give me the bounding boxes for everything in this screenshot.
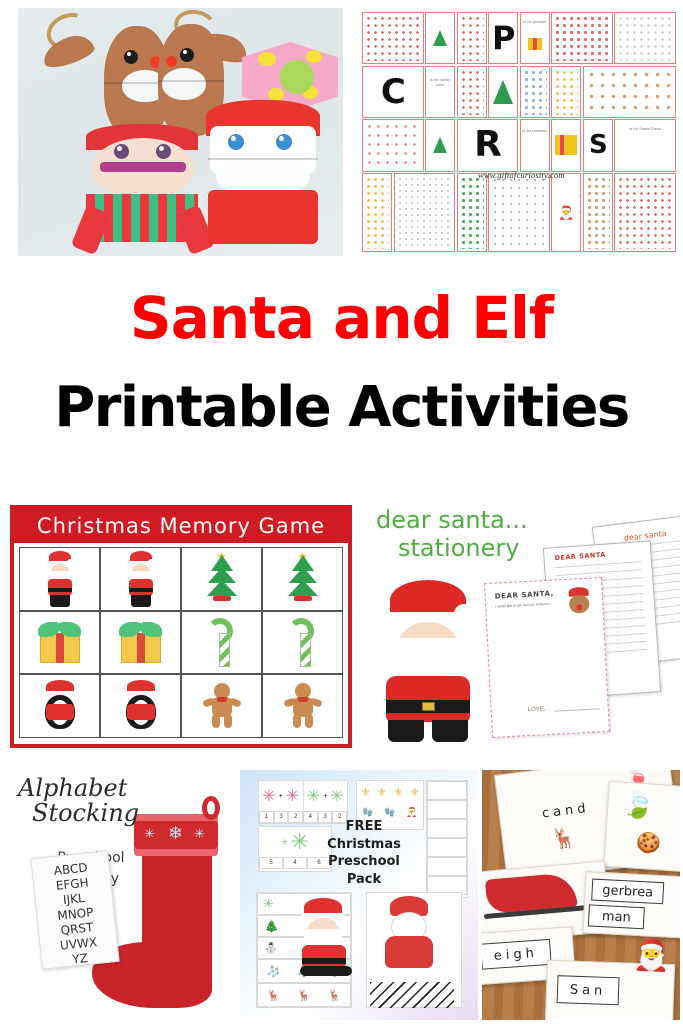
tree-icon: [493, 80, 513, 104]
gingerbread-man-icon: 🍪: [635, 830, 662, 857]
memory-cell-santa[interactable]: [19, 547, 100, 611]
collage-tile: [425, 12, 455, 64]
word-card-gingerbread-man: gerbrea man: [582, 871, 680, 939]
eye-icon: [124, 50, 138, 64]
penguin-santa-icon: [42, 680, 78, 732]
penguin-santa-icon: [123, 680, 159, 732]
snowflake-icon: ✳: [281, 837, 289, 848]
collage-tile-reindeer-caption: is for reindeer: [520, 119, 550, 171]
caption-santa-claus: is for Santa Claus: [615, 126, 675, 131]
collage-tile-letter-c: C: [362, 66, 424, 118]
candle-icon: ⚜: [377, 786, 387, 799]
reindeer-icon: [563, 586, 595, 618]
collage-tile: [488, 66, 518, 118]
memory-game-grid: ★ ★: [19, 547, 343, 738]
collage-tile: [614, 173, 676, 252]
memory-cell-gift[interactable]: [100, 611, 181, 675]
santa-icon: [124, 551, 158, 607]
christmas-tree-icon: ★: [202, 553, 242, 605]
memory-cell-gingerbread-man[interactable]: [262, 674, 343, 738]
tree-icon: [433, 30, 447, 46]
candy-cane-icon: [205, 617, 239, 667]
gingerbread-man-icon: [202, 683, 242, 729]
stocking-icon: 🧦: [266, 965, 280, 978]
eye-icon: [180, 48, 194, 62]
yellow-dot: [306, 50, 322, 63]
memory-cell-christmas-tree[interactable]: ★: [262, 547, 343, 611]
santa-boot: [388, 720, 424, 742]
collage-tile: [394, 173, 456, 252]
dear-santa-stationery-graphic: dear santa... stationery dear santa DEAR…: [358, 498, 680, 750]
tree-icon: 🎄: [264, 919, 279, 933]
paper-fold: [158, 80, 224, 82]
santa-coat: [386, 676, 470, 722]
pin-title: Santa and Elf Printable Activities: [0, 288, 683, 438]
pack-title-line-1: FREE: [314, 818, 414, 836]
santa-icon: 🎅: [632, 938, 671, 974]
number-cell: 2: [288, 811, 303, 823]
holly-icon: 🍃: [621, 789, 655, 822]
candle-icon: ⚜: [393, 786, 403, 799]
snowflake-icon: ❄: [168, 823, 183, 844]
memory-cell-penguin-santa[interactable]: [100, 674, 181, 738]
letter-r-dot: R: [474, 127, 501, 163]
collage-tile-present-caption: is for present: [520, 12, 550, 64]
snowflake-icon: ✳: [291, 829, 309, 855]
snowman-clipart: [378, 896, 440, 976]
yellow-dot: [258, 52, 276, 66]
christmas-memory-game-card: Christmas Memory Game ★ ★: [10, 505, 352, 748]
caption-candy-cane: is for candy cane: [426, 77, 454, 87]
memory-cell-penguin-santa[interactable]: [19, 674, 100, 738]
worksheet-tracing-column: [426, 780, 468, 898]
stationery-sheet-front: DEAR SANTA, I would like to ask that you…: [484, 577, 610, 738]
nose-icon: [166, 56, 177, 67]
alphabet-stocking-photo: ✳ ❄ ✳ Alphabet Stocking Preschool Litera…: [10, 770, 232, 1020]
gift-icon: [528, 38, 542, 50]
stocking-leg: [142, 850, 212, 968]
santa-icon: [43, 551, 77, 607]
snowflake-icon: ✳: [194, 826, 205, 842]
alphabet-card: ABCD EFGH IJKL MNOP QRST UVWX YZ: [30, 850, 119, 970]
collage-tile-letter-s: S: [583, 119, 613, 171]
title-line-1: Santa and Elf: [0, 288, 683, 349]
preschool-pack-title: FREE Christmas Preschool Pack: [314, 818, 414, 888]
pack-title-line-4: Pack: [314, 871, 414, 889]
reindeer-icon: 🦌: [297, 989, 311, 1002]
memory-cell-candy-cane[interactable]: [181, 611, 262, 675]
mitten-icon: 🧤: [384, 807, 395, 818]
candle-icon: ⚜: [360, 786, 370, 799]
snowman-body: [385, 936, 433, 968]
collage-tile: [362, 119, 424, 171]
memory-cell-gift[interactable]: [19, 611, 100, 675]
collage-tile: [457, 66, 487, 118]
candy-cane-icon: [286, 617, 320, 667]
snowflake-icon: ✳: [286, 786, 299, 806]
letter-p-dot: P: [492, 22, 514, 54]
memory-cell-santa[interactable]: [100, 547, 181, 611]
santa-icon: 🎅: [406, 807, 417, 818]
collage-tile: [583, 173, 613, 252]
collage-tile-letter-p: P: [488, 12, 518, 64]
green-center: [280, 60, 314, 94]
letter-c-dot: C: [381, 75, 405, 109]
memory-cell-christmas-tree[interactable]: ★: [181, 547, 262, 611]
pack-title-line-2: Christmas: [314, 836, 414, 854]
collage-tile: [614, 12, 676, 64]
stocking-title: Alphabet Stocking: [18, 776, 148, 826]
pinterest-pin-graphic: P is for present C is for candy cane R: [0, 0, 683, 1024]
tree-icon: [433, 137, 447, 153]
mitten-icon: 🧤: [362, 807, 373, 818]
santa-clipart: [292, 898, 360, 976]
gift-icon: [555, 135, 577, 155]
collage-tile: [457, 173, 487, 252]
collage-tile: [362, 173, 392, 252]
santa-icon: 🎅: [558, 205, 574, 221]
eye-icon: [228, 134, 244, 150]
sheet-front-signature: LOVE,: [528, 706, 546, 713]
muzzle: [162, 68, 206, 100]
candle-icon: ⚜: [410, 786, 420, 799]
word-fragment: man: [588, 904, 645, 929]
pack-title-line-3: Preschool: [314, 853, 414, 871]
caption-present: is for present: [521, 19, 549, 24]
title-line-2: Printable Activities: [0, 379, 683, 438]
number-cell: 1: [259, 811, 274, 823]
collage-tile-candycane-caption: is for candy cane: [425, 66, 455, 118]
number-cell: 4: [283, 857, 307, 869]
santa-body: [208, 190, 318, 244]
snowflake-icon: ✳: [144, 826, 155, 842]
free-christmas-preschool-pack-graphic: ✳+✳ ✳+✳ 1 3 2 4 3 2 ✳ ✳ 5 4: [240, 770, 478, 1020]
memory-game-header: Christmas Memory Game: [14, 509, 348, 543]
collage-tile: [457, 12, 487, 64]
eye-icon: [156, 144, 171, 159]
letter-s-dot: S: [589, 132, 607, 158]
eye-icon: [276, 134, 292, 150]
word-card-santa: San 🎅: [545, 960, 675, 1020]
santa-belt-buckle: [422, 702, 435, 711]
stocking-title-line-2: Stocking: [18, 801, 148, 826]
word-fragment: gerbrea: [591, 879, 664, 905]
collage-tile: [551, 66, 581, 118]
reindeer-icon: 🦌: [550, 825, 578, 853]
stocking-title-line-1: Alphabet: [18, 774, 127, 802]
craft-photo-cootie-catchers: [18, 8, 343, 256]
stocking-hanging-loop: [202, 796, 220, 820]
caption-reindeer: is for reindeer: [521, 128, 549, 133]
signature-line: [554, 708, 600, 711]
word-fragment: eigh: [482, 939, 552, 970]
reindeer-icon: 🦌: [266, 989, 280, 1002]
santa-boot: [432, 720, 468, 742]
eye-icon: [114, 144, 129, 159]
collage-grid: P is for present C is for candy cane R: [362, 12, 676, 252]
stationery-title-line-1: dear santa...: [376, 506, 528, 534]
santa-boots: [300, 966, 352, 976]
snowflake-icon: ✳: [263, 896, 274, 912]
paper-fold: [208, 158, 318, 160]
word-fragment: San: [557, 975, 620, 1005]
zigzag-tracing-line: [370, 982, 454, 1008]
collage-tile: [488, 173, 550, 252]
memory-cell-candy-cane[interactable]: [262, 611, 343, 675]
word-building-cards-photo: 🍬 cand 🦌 🍃 🍪 gerbrea man eigh San 🎅: [482, 770, 680, 1020]
collage-tile: [551, 12, 613, 64]
snowflake-icon: ✳: [307, 786, 320, 806]
watermark-url: www.giftofcuriosity.com: [478, 170, 565, 180]
stationery-title: dear santa... stationery: [376, 506, 566, 563]
number-cell: 5: [259, 857, 283, 869]
gift-icon: [37, 621, 83, 663]
memory-game-title: Christmas Memory Game: [37, 514, 325, 538]
collage-tile-santaclaus-caption: is for Santa Claus: [614, 119, 676, 171]
snowflake-icon: ✳: [262, 786, 275, 806]
collage-tile: [520, 66, 550, 118]
memory-cell-gingerbread-man[interactable]: [181, 674, 262, 738]
snowflake-icon: ✳: [330, 786, 343, 806]
christmas-tree-icon: ★: [283, 553, 323, 605]
collage-tile: [551, 119, 581, 171]
stationery-title-line-2: stationery: [376, 534, 566, 562]
snowman-icon: ⛄: [264, 942, 278, 955]
elf-mouth: [100, 162, 186, 172]
collage-tile: [362, 12, 424, 64]
word-card-holly: 🍃 🍪: [603, 781, 680, 874]
gift-icon: [118, 621, 164, 663]
word-fragment: cand: [541, 801, 590, 822]
reindeer-icon: 🦌: [328, 989, 342, 1002]
number-cell: 3: [274, 811, 289, 823]
santa-clipart: [372, 580, 484, 740]
collage-tile: [425, 119, 455, 171]
collage-tile: 🎅: [551, 173, 581, 252]
collage-tile: [583, 66, 676, 118]
do-a-dot-printables-collage: P is for present C is for candy cane R: [358, 8, 680, 256]
santa-belt: [302, 958, 346, 964]
gingerbread-man-icon: [283, 683, 323, 729]
collage-tile-letter-r: R: [457, 119, 519, 171]
